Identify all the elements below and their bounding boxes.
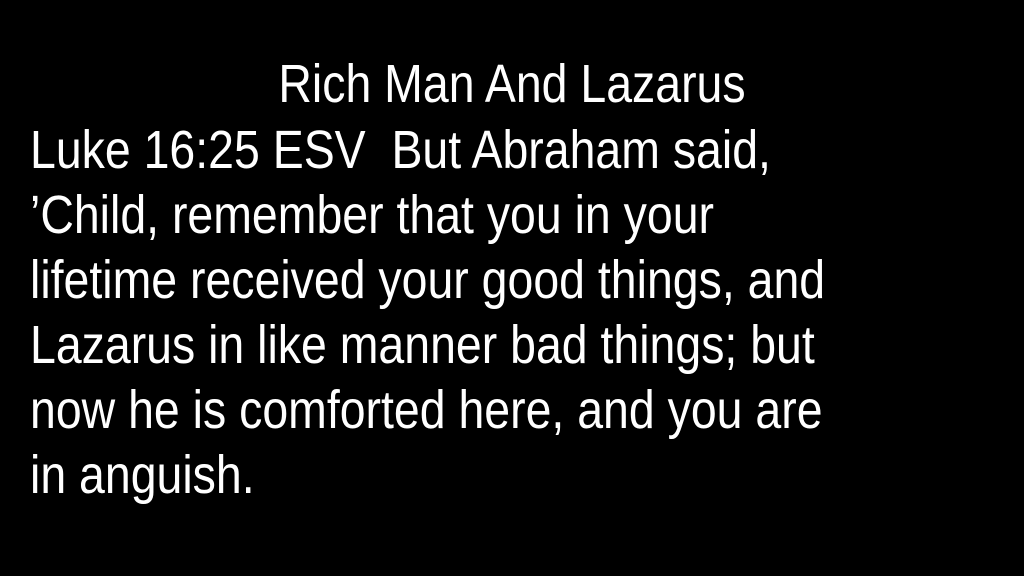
presentation-slide: Rich Man And Lazarus Luke 16:25 ESV But … xyxy=(0,0,1024,576)
scripture-line: ’Child, remember that you in your xyxy=(30,183,881,248)
scripture-line: lifetime received your good things, and xyxy=(30,248,881,313)
scripture-line: now he is comforted here, and you are xyxy=(30,378,881,443)
scripture-line: Lazarus in like manner bad things; but xyxy=(30,313,881,378)
scripture-line: Luke 16:25 ESV But Abraham said, xyxy=(30,118,881,183)
scripture-body: Luke 16:25 ESV But Abraham said, ’Child,… xyxy=(30,118,1020,508)
slide-title: Rich Man And Lazarus xyxy=(72,52,953,116)
scripture-line: in anguish. xyxy=(30,443,881,508)
